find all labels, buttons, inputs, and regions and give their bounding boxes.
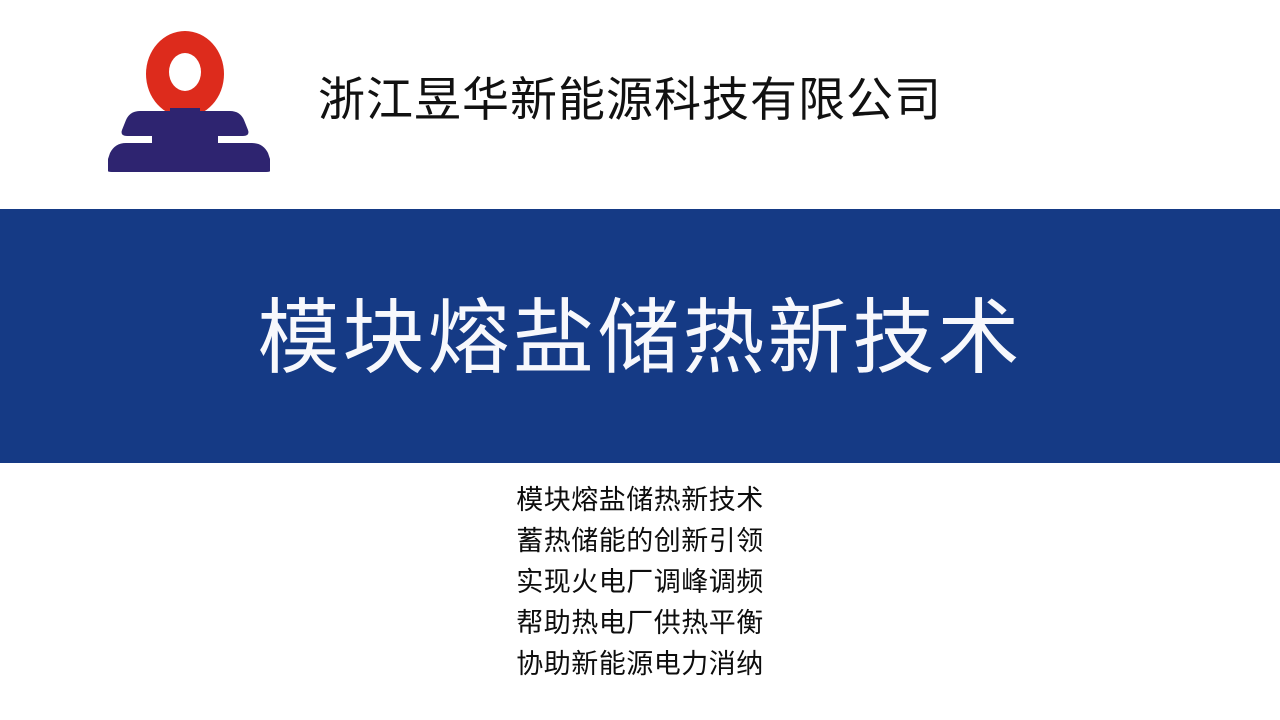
tagline-item: 协助新能源电力消纳 bbox=[516, 644, 764, 685]
slide-title: 模块熔盐储热新技术 bbox=[0, 209, 1280, 463]
tagline-item: 蓄热储能的创新引领 bbox=[516, 521, 764, 562]
logo-red-ring bbox=[146, 31, 224, 117]
tagline-item: 模块熔盐储热新技术 bbox=[516, 480, 764, 521]
slide-header: 浙江昱华新能源科技有限公司 bbox=[0, 0, 1280, 209]
tagline-item: 实现火电厂调峰调频 bbox=[516, 562, 764, 603]
presentation-slide: 浙江昱华新能源科技有限公司 模块熔盐储热新技术 模块熔盐储热新技术 蓄热储能的创… bbox=[0, 0, 1280, 720]
tagline-list: 模块熔盐储热新技术 蓄热储能的创新引领 实现火电厂调峰调频 帮助热电厂供热平衡 … bbox=[0, 480, 1280, 685]
yuhua-company-logo-icon bbox=[108, 28, 270, 176]
company-name: 浙江昱华新能源科技有限公司 bbox=[318, 72, 942, 130]
logo-navy-base bbox=[108, 108, 270, 172]
title-banner: 模块熔盐储热新技术 bbox=[0, 209, 1280, 463]
tagline-item: 帮助热电厂供热平衡 bbox=[516, 603, 764, 644]
